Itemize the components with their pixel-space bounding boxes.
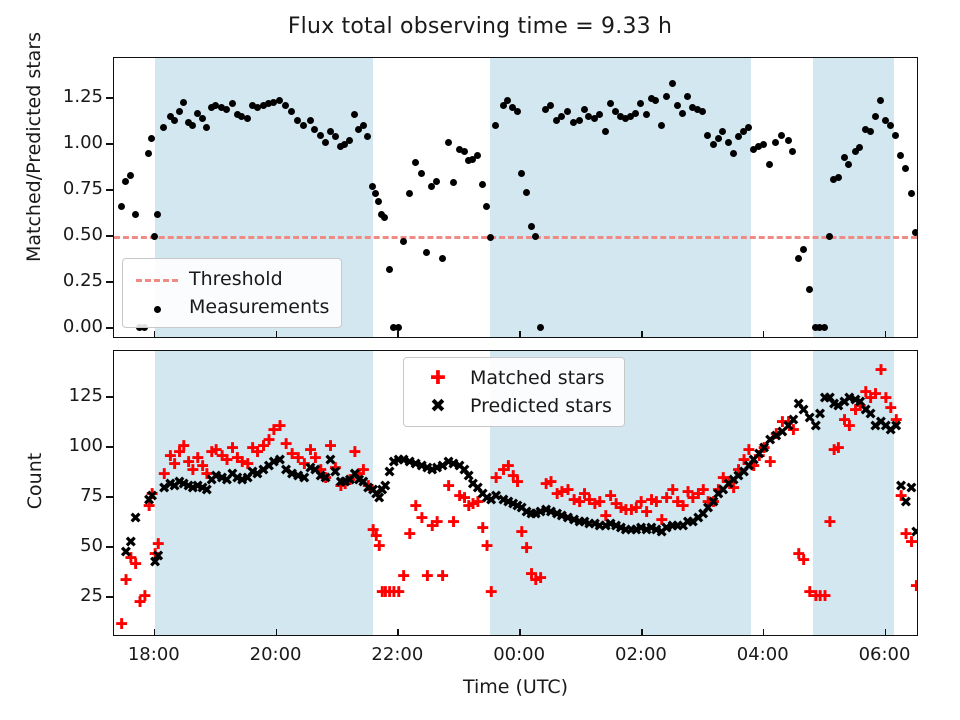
measurement-point	[199, 115, 206, 122]
matched-star-point: ✚	[843, 419, 856, 434]
cross-icon: ✖	[412, 395, 464, 417]
matched-star-point: ✚	[138, 589, 151, 604]
predicted-star-point: ✖	[152, 549, 165, 564]
measurement-point	[322, 139, 329, 146]
predicted-star-point: ✖	[379, 479, 392, 494]
x-tick-mark	[885, 629, 887, 636]
measurement-point	[400, 238, 407, 245]
measurement-point	[835, 174, 842, 181]
dot-icon	[131, 298, 183, 317]
dashed-line-icon	[131, 270, 183, 289]
matched-star-point: ✚	[520, 541, 533, 556]
measurement-point	[715, 135, 722, 142]
measurement-point	[872, 113, 879, 120]
measurement-point	[450, 179, 457, 186]
measurement-point	[679, 110, 686, 117]
measurement-point	[826, 233, 833, 240]
measurement-point	[461, 148, 468, 155]
counts-y-tick-label: 125	[37, 385, 103, 406]
measurement-point	[841, 154, 848, 161]
measurement-point	[439, 255, 446, 262]
matched-star-point: ✚	[534, 571, 547, 586]
x-tick-label: 20:00	[236, 644, 316, 665]
measurement-point	[760, 141, 767, 148]
matched-star-point: ✚	[373, 539, 386, 554]
measurement-point	[445, 139, 452, 146]
measurement-point	[307, 117, 314, 124]
measurement-point	[632, 110, 639, 117]
measurement-point	[564, 108, 571, 115]
matched-star-point: ✚	[797, 553, 810, 568]
measurement-point	[317, 132, 324, 139]
ratio-y-tick-mark	[106, 143, 113, 145]
measurement-point	[381, 214, 388, 221]
matched-star-point: ✚	[476, 521, 489, 536]
x-tick-mark	[519, 629, 521, 636]
measurement-point	[372, 190, 379, 197]
predicted-star-point: ✖	[124, 535, 137, 550]
ratio-y-tick-label: 0.75	[37, 178, 103, 199]
shaded-band	[490, 58, 751, 337]
measurement-point	[806, 286, 813, 293]
x-tick-mark	[397, 629, 399, 636]
counts-y-tick-label: 75	[37, 485, 103, 506]
predicted-star-point: ✖	[129, 511, 142, 526]
measurement-point	[523, 189, 530, 196]
measurement-point	[581, 106, 588, 113]
measurement-point	[145, 150, 152, 157]
matched-star-point: ✚	[397, 569, 410, 584]
matched-star-point: ✚	[515, 525, 528, 540]
measurement-point	[171, 117, 178, 124]
measurement-point	[730, 150, 737, 157]
ratio-y-tick-mark	[106, 327, 113, 329]
threshold-line	[114, 236, 917, 239]
x-tick-mark	[397, 331, 399, 338]
ratio-y-tick-label: 0.50	[37, 224, 103, 245]
x-tick-mark	[641, 331, 643, 338]
measurement-point	[766, 161, 773, 168]
counts-y-tick-mark	[106, 596, 113, 598]
measurement-point	[772, 139, 779, 146]
counts-y-tick-label: 50	[37, 535, 103, 556]
matched-star-point: ✚	[511, 475, 524, 490]
matched-star-point: ✚	[819, 589, 832, 604]
measurement-point	[151, 233, 158, 240]
measurement-point	[176, 108, 183, 115]
measurement-point	[795, 255, 802, 262]
measurement-point	[897, 152, 904, 159]
measurement-point	[908, 190, 915, 197]
measurement-point	[479, 181, 486, 188]
matched-star-point: ✚	[916, 579, 917, 594]
legend-item-matched-stars: ✚ Matched stars	[412, 364, 612, 392]
matched-star-point: ✚	[823, 515, 836, 530]
measurement-point	[375, 198, 382, 205]
legend-label-measurements: Measurements	[183, 296, 329, 318]
measurement-point	[433, 178, 440, 185]
measurement-point	[576, 117, 583, 124]
legend-label-predicted-stars: Predicted stars	[464, 395, 612, 417]
matched-star-point: ✚	[481, 539, 494, 554]
legend-item-threshold: Threshold	[131, 265, 329, 293]
counts-y-tick-mark	[106, 546, 113, 548]
predicted-star-point: ✖	[905, 481, 917, 496]
x-tick-mark	[276, 331, 278, 338]
predicted-star-point: ✖	[900, 495, 913, 510]
predicted-star-point: ✖	[916, 525, 917, 540]
matched-star-point: ✚	[349, 445, 362, 460]
x-tick-mark	[154, 629, 156, 636]
measurement-point	[902, 165, 909, 172]
measurement-point	[244, 115, 251, 122]
x-tick-label: 18:00	[114, 644, 194, 665]
measurement-point	[532, 233, 539, 240]
measurement-point	[745, 124, 752, 131]
measurement-point	[912, 229, 917, 236]
counts-legend: ✚ Matched stars ✖ Predicted stars	[403, 357, 625, 427]
x-tick-mark	[885, 331, 887, 338]
measurement-point	[704, 132, 711, 139]
x-tick-mark	[641, 629, 643, 636]
x-tick-mark	[154, 331, 156, 338]
x-tick-label: 00:00	[479, 644, 559, 665]
counts-y-axis-label: Count	[24, 406, 46, 556]
counts-y-tick-label: 25	[37, 585, 103, 606]
measurement-point	[892, 132, 899, 139]
measurement-point	[800, 246, 807, 253]
matched-star-point: ✚	[764, 455, 777, 470]
counts-y-tick-mark	[106, 396, 113, 398]
measurement-point	[154, 211, 161, 218]
matched-star-point: ✚	[403, 527, 416, 542]
measurement-point	[663, 93, 670, 100]
ratio-y-tick-label: 0.25	[37, 270, 103, 291]
measurement-point	[514, 108, 521, 115]
x-tick-label: 22:00	[357, 644, 437, 665]
counts-y-tick-label: 100	[37, 435, 103, 456]
matched-star-point: ✚	[392, 585, 405, 600]
legend-item-measurements: Measurements	[131, 293, 329, 321]
figure-root: Flux total observing time = 9.33 h Match…	[0, 0, 960, 720]
matched-star-point: ✚	[447, 515, 460, 530]
matched-star-point: ✚	[832, 441, 845, 456]
matched-star-point: ✚	[436, 569, 449, 584]
legend-item-predicted-stars: ✖ Predicted stars	[412, 392, 612, 420]
plus-icon: ✚	[412, 367, 464, 389]
matched-star-point: ✚	[431, 515, 444, 530]
matched-star-point: ✚	[421, 569, 434, 584]
measurement-point	[789, 148, 796, 155]
x-tick-mark	[519, 331, 521, 338]
legend-label-threshold: Threshold	[183, 268, 283, 290]
measurement-point	[518, 170, 525, 177]
measurement-point	[674, 102, 681, 109]
measurement-point	[474, 152, 481, 159]
x-axis-label: Time (UTC)	[113, 676, 918, 698]
legend-label-matched-stars: Matched stars	[464, 367, 604, 389]
measurement-point	[602, 128, 609, 135]
measurement-point	[710, 141, 717, 148]
measurement-point	[180, 99, 187, 106]
ratio-y-tick-label: 1.25	[37, 86, 103, 107]
matched-star-point: ✚	[177, 439, 190, 454]
ratio-y-tick-label: 1.00	[37, 132, 103, 153]
measurement-point	[132, 211, 139, 218]
ratio-y-tick-mark	[106, 97, 113, 99]
measurement-point	[877, 97, 884, 104]
measurement-point	[118, 203, 125, 210]
measurement-point	[369, 183, 376, 190]
ratio-y-tick-mark	[106, 281, 113, 283]
matched-star-point: ✚	[115, 617, 128, 632]
matched-star-point: ✚	[274, 419, 287, 434]
predicted-star-point: ✖	[890, 419, 903, 434]
measurement-point	[725, 139, 732, 146]
matched-star-point: ✚	[120, 573, 133, 588]
measurement-point	[127, 172, 134, 179]
ratio-legend: Threshold Measurements	[122, 258, 342, 328]
measurement-point	[778, 132, 785, 139]
figure-title: Flux total observing time = 9.33 h	[0, 14, 960, 39]
ratio-y-tick-mark	[106, 189, 113, 191]
matched-star-point: ✚	[875, 363, 888, 378]
measurement-point	[418, 170, 425, 177]
measurement-point	[386, 266, 393, 273]
x-tick-mark	[763, 331, 765, 338]
ratio-y-tick-mark	[106, 235, 113, 237]
x-tick-mark	[763, 629, 765, 636]
measurement-point	[785, 137, 792, 144]
counts-y-tick-mark	[106, 446, 113, 448]
predicted-star-point: ✖	[814, 407, 827, 422]
measurement-point	[423, 249, 430, 256]
x-tick-label: 04:00	[723, 644, 803, 665]
x-tick-label: 06:00	[845, 644, 925, 665]
predicted-star-point: ✖	[146, 489, 159, 504]
measurement-point	[406, 190, 413, 197]
x-tick-label: 02:00	[601, 644, 681, 665]
counts-y-tick-mark	[106, 496, 113, 498]
measurement-point	[412, 159, 419, 166]
ratio-y-tick-label: 0.00	[37, 316, 103, 337]
measurement-point	[223, 106, 230, 113]
matched-star-point: ✚	[485, 585, 498, 600]
measurement-point	[867, 128, 874, 135]
x-tick-mark	[276, 629, 278, 636]
